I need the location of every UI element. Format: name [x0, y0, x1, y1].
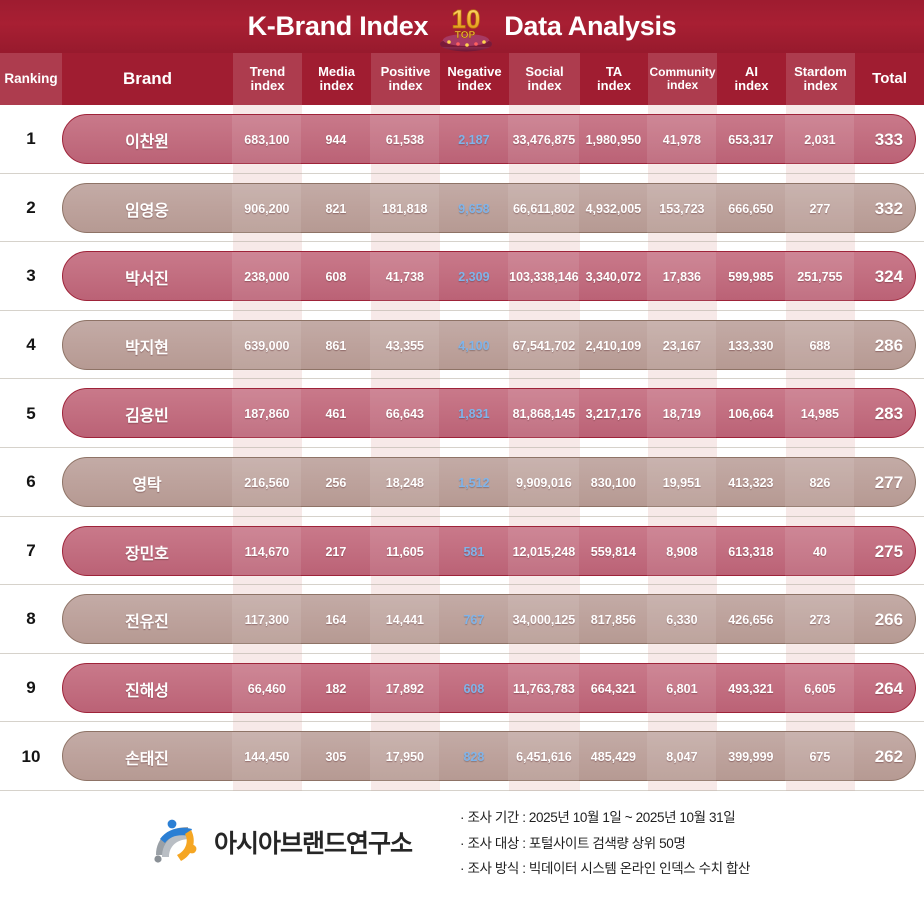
cell-total: 264 — [854, 664, 923, 714]
cell-community: 153,723 — [647, 184, 716, 234]
svg-text:TOP: TOP — [455, 30, 476, 41]
cell-ta: 485,429 — [579, 732, 647, 782]
column-header-label: Mediaindex — [318, 65, 355, 93]
column-header-label: Socialindex — [525, 65, 563, 93]
row-pill-bar: 영탁216,56025618,2481,5129,909,016830,1001… — [62, 457, 916, 507]
cell-trend: 906,200 — [232, 184, 301, 234]
cell-trend: 683,100 — [232, 115, 301, 165]
cell-social: 34,000,125 — [508, 595, 579, 645]
cell-brand: 김용빈 — [61, 389, 232, 439]
cell-ranking: 9 — [0, 654, 62, 723]
cell-media: 164 — [301, 595, 370, 645]
brand-logo: 아시아브랜드연구소 — [148, 815, 412, 869]
survey-note-2: · 조사 대상 : 포털사이트 검색량 상위 50명 — [460, 837, 750, 851]
table-row[interactable]: 10손태진144,45030517,9508286,451,616485,429… — [0, 722, 924, 791]
cell-brand: 박서진 — [61, 252, 232, 302]
cell-positive: 181,818 — [370, 184, 439, 234]
cell-positive: 18,248 — [370, 458, 439, 508]
table-row[interactable]: 6영탁216,56025618,2481,5129,909,016830,100… — [0, 448, 924, 517]
column-header-trend: Trendindex — [233, 53, 302, 105]
cell-stardom: 2,031 — [785, 115, 854, 165]
cell-community: 17,836 — [647, 252, 716, 302]
cell-ranking: 7 — [0, 517, 62, 586]
cell-social: 9,909,016 — [508, 458, 579, 508]
cell-ranking: 1 — [0, 105, 62, 174]
column-header-ai: AIindex — [717, 53, 786, 105]
row-pill-bar: 김용빈187,86046166,6431,83181,868,1453,217,… — [62, 388, 916, 438]
cell-ranking: 2 — [0, 174, 62, 243]
cell-negative: 2,187 — [439, 115, 508, 165]
cell-ta: 4,932,005 — [579, 184, 647, 234]
table-header-row: RankingBrandTrendindexMediaindexPositive… — [0, 53, 924, 105]
cell-total: 286 — [854, 321, 923, 371]
cell-media: 861 — [301, 321, 370, 371]
cell-ta: 664,321 — [579, 664, 647, 714]
table-row[interactable]: 8전유진117,30016414,44176734,000,125817,856… — [0, 585, 924, 654]
cell-brand: 전유진 — [61, 595, 232, 645]
cell-community: 41,978 — [647, 115, 716, 165]
survey-notes: · 조사 기간 : 2025년 10월 1일 ~ 2025년 10월 31일· … — [460, 811, 750, 888]
cell-trend: 117,300 — [232, 595, 301, 645]
cell-brand: 박지현 — [61, 321, 232, 371]
column-header-ta: TAindex — [580, 53, 648, 105]
cell-total: 266 — [854, 595, 923, 645]
cell-trend: 639,000 — [232, 321, 301, 371]
table-row[interactable]: 1이찬원683,10094461,5382,18733,476,8751,980… — [0, 105, 924, 174]
cell-total: 332 — [854, 184, 923, 234]
cell-social: 103,338,146 — [508, 252, 579, 302]
cell-brand: 장민호 — [61, 527, 232, 577]
cell-stardom: 675 — [785, 732, 854, 782]
column-header-label: Communityindex — [650, 66, 716, 92]
cell-ta: 817,856 — [579, 595, 647, 645]
column-header-media: Mediaindex — [302, 53, 371, 105]
column-header-total: Total — [855, 53, 924, 105]
cell-media: 256 — [301, 458, 370, 508]
cell-positive: 14,441 — [370, 595, 439, 645]
cell-ai: 653,317 — [716, 115, 785, 165]
cell-ai: 613,318 — [716, 527, 785, 577]
survey-note-3: · 조사 방식 : 빅데이터 시스템 온라인 인덱스 수치 합산 — [460, 862, 750, 876]
cell-trend: 187,860 — [232, 389, 301, 439]
cell-ranking: 4 — [0, 311, 62, 380]
cell-positive: 66,643 — [370, 389, 439, 439]
column-header-ranking: Ranking — [0, 53, 62, 105]
cell-stardom: 688 — [785, 321, 854, 371]
cell-ta: 2,410,109 — [579, 321, 647, 371]
cell-ai: 133,330 — [716, 321, 785, 371]
cell-total: 324 — [854, 252, 923, 302]
cell-ranking: 3 — [0, 242, 62, 311]
cell-positive: 17,950 — [370, 732, 439, 782]
cell-social: 66,611,802 — [508, 184, 579, 234]
cell-ai: 493,321 — [716, 664, 785, 714]
cell-ta: 3,217,176 — [579, 389, 647, 439]
row-pill-bar: 임영웅906,200821181,8189,65866,611,8024,932… — [62, 183, 916, 233]
table-row[interactable]: 4박지현639,00086143,3554,10067,541,7022,410… — [0, 311, 924, 380]
column-header-label: Total — [872, 71, 907, 87]
cell-social: 11,763,783 — [508, 664, 579, 714]
column-header-label: Trendindex — [250, 65, 285, 93]
table-row[interactable]: 5김용빈187,86046166,6431,83181,868,1453,217… — [0, 379, 924, 448]
column-header-community: Communityindex — [648, 53, 717, 105]
cell-total: 283 — [854, 389, 923, 439]
cell-media: 182 — [301, 664, 370, 714]
cell-social: 12,015,248 — [508, 527, 579, 577]
cell-negative: 581 — [439, 527, 508, 577]
row-pill-bar: 박서진238,00060841,7382,309103,338,1463,340… — [62, 251, 916, 301]
column-header-label: Positiveindex — [381, 65, 431, 93]
cell-ranking: 10 — [0, 722, 62, 791]
cell-ta: 1,980,950 — [579, 115, 647, 165]
row-pill-bar: 이찬원683,10094461,5382,18733,476,8751,980,… — [62, 114, 916, 164]
table-body: 1이찬원683,10094461,5382,18733,476,8751,980… — [0, 105, 924, 791]
top10-badge-icon: 10 TOP — [434, 1, 498, 53]
cell-brand: 영탁 — [61, 458, 232, 508]
row-pill-bar: 진해성66,46018217,89260811,763,783664,3216,… — [62, 663, 916, 713]
column-header-social: Socialindex — [509, 53, 580, 105]
survey-note-1: · 조사 기간 : 2025년 10월 1일 ~ 2025년 10월 31일 — [460, 811, 750, 825]
column-header-brand: Brand — [62, 53, 233, 105]
cell-stardom: 273 — [785, 595, 854, 645]
cell-total: 333 — [854, 115, 923, 165]
cell-negative: 9,658 — [439, 184, 508, 234]
table-row[interactable]: 2임영웅906,200821181,8189,65866,611,8024,93… — [0, 174, 924, 243]
cell-ai: 399,999 — [716, 732, 785, 782]
cell-media: 944 — [301, 115, 370, 165]
cell-brand: 이찬원 — [61, 115, 232, 165]
cell-positive: 17,892 — [370, 664, 439, 714]
cell-trend: 144,450 — [232, 732, 301, 782]
cell-brand: 손태진 — [61, 732, 232, 782]
cell-stardom: 14,985 — [785, 389, 854, 439]
cell-negative: 1,512 — [439, 458, 508, 508]
cell-brand: 진해성 — [61, 664, 232, 714]
cell-stardom: 251,755 — [785, 252, 854, 302]
cell-trend: 216,560 — [232, 458, 301, 508]
cell-media: 608 — [301, 252, 370, 302]
cell-community: 8,047 — [647, 732, 716, 782]
cell-positive: 43,355 — [370, 321, 439, 371]
cell-ai: 106,664 — [716, 389, 785, 439]
cell-social: 67,541,702 — [508, 321, 579, 371]
cell-brand: 임영웅 — [61, 184, 232, 234]
cell-total: 275 — [854, 527, 923, 577]
column-header-label: Stardomindex — [794, 65, 847, 93]
cell-community: 6,330 — [647, 595, 716, 645]
cell-negative: 2,309 — [439, 252, 508, 302]
brand-index-infographic: K-Brand Index — [0, 0, 924, 900]
cell-positive: 61,538 — [370, 115, 439, 165]
cell-ai: 413,323 — [716, 458, 785, 508]
cell-stardom: 826 — [785, 458, 854, 508]
cell-negative: 4,100 — [439, 321, 508, 371]
cell-trend: 114,670 — [232, 527, 301, 577]
cell-total: 277 — [854, 458, 923, 508]
cell-community: 6,801 — [647, 664, 716, 714]
column-header-label: Ranking — [4, 72, 57, 87]
cell-media: 305 — [301, 732, 370, 782]
row-pill-bar: 장민호114,67021711,60558112,015,248559,8148… — [62, 526, 916, 576]
cell-trend: 66,460 — [232, 664, 301, 714]
cell-media: 461 — [301, 389, 370, 439]
cell-ta: 559,814 — [579, 527, 647, 577]
column-header-label: Brand — [123, 70, 172, 88]
title-bar: K-Brand Index — [0, 0, 924, 53]
cell-ta: 3,340,072 — [579, 252, 647, 302]
column-header-stardom: Stardomindex — [786, 53, 855, 105]
cell-ai: 599,985 — [716, 252, 785, 302]
cell-negative: 828 — [439, 732, 508, 782]
row-pill-bar: 전유진117,30016414,44176734,000,125817,8566… — [62, 594, 916, 644]
cell-ta: 830,100 — [579, 458, 647, 508]
cell-stardom: 6,605 — [785, 664, 854, 714]
cell-trend: 238,000 — [232, 252, 301, 302]
cell-negative: 1,831 — [439, 389, 508, 439]
column-header-label: AIindex — [735, 65, 769, 93]
cell-community: 8,908 — [647, 527, 716, 577]
cell-ai: 426,656 — [716, 595, 785, 645]
cell-social: 81,868,145 — [508, 389, 579, 439]
cell-ranking: 5 — [0, 379, 62, 448]
table-row[interactable]: 7장민호114,67021711,60558112,015,248559,814… — [0, 517, 924, 586]
column-header-negative: Negativeindex — [440, 53, 509, 105]
column-header-label: TAindex — [597, 65, 631, 93]
column-header-positive: Positiveindex — [371, 53, 440, 105]
cell-social: 6,451,616 — [508, 732, 579, 782]
row-pill-bar: 박지현639,00086143,3554,10067,541,7022,410,… — [62, 320, 916, 370]
cell-ranking: 6 — [0, 448, 62, 517]
cell-negative: 608 — [439, 664, 508, 714]
cell-ranking: 8 — [0, 585, 62, 654]
cell-stardom: 277 — [785, 184, 854, 234]
cell-community: 19,951 — [647, 458, 716, 508]
column-header-label: Negativeindex — [447, 65, 501, 93]
cell-ai: 666,650 — [716, 184, 785, 234]
footer: 아시아브랜드연구소 · 조사 기간 : 2025년 10월 1일 ~ 2025년… — [0, 791, 924, 900]
cell-positive: 41,738 — [370, 252, 439, 302]
cell-community: 18,719 — [647, 389, 716, 439]
row-pill-bar: 손태진144,45030517,9508286,451,616485,4298,… — [62, 731, 916, 781]
cell-media: 217 — [301, 527, 370, 577]
cell-positive: 11,605 — [370, 527, 439, 577]
cell-total: 262 — [854, 732, 923, 782]
table-row[interactable]: 9진해성66,46018217,89260811,763,783664,3216… — [0, 654, 924, 723]
cell-social: 33,476,875 — [508, 115, 579, 165]
title-right: Data Analysis — [504, 13, 676, 40]
cell-media: 821 — [301, 184, 370, 234]
cell-community: 23,167 — [647, 321, 716, 371]
cell-negative: 767 — [439, 595, 508, 645]
title-left: K-Brand Index — [248, 13, 429, 40]
logo-text: 아시아브랜드연구소 — [214, 824, 412, 860]
asia-brand-institute-logo-icon — [148, 815, 202, 869]
cell-stardom: 40 — [785, 527, 854, 577]
table-row[interactable]: 3박서진238,00060841,7382,309103,338,1463,34… — [0, 242, 924, 311]
